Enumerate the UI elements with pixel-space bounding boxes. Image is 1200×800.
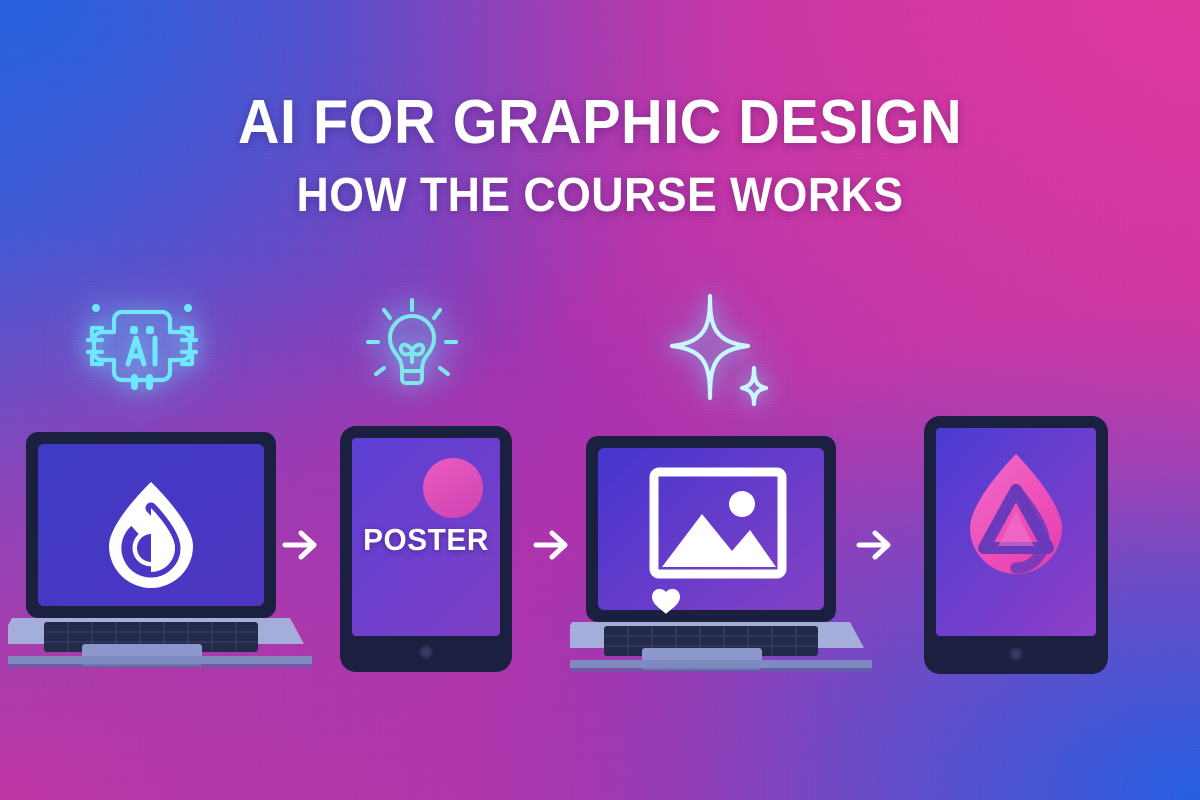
laptop-image-result	[570, 434, 872, 672]
lightbulb-idea-icon	[356, 292, 468, 404]
flow-arrow-1	[277, 522, 323, 568]
flow-arrow-3	[851, 522, 897, 568]
laptop-brand-logo	[8, 430, 312, 670]
heading-block: AI FOR GRAPHIC DESIGN HOW THE COURSE WOR…	[0, 92, 1200, 220]
poster-accent-circle	[423, 458, 483, 518]
tablet-final-logo	[920, 414, 1112, 676]
poster-text: POSTER	[340, 522, 513, 558]
sparkle-icon	[662, 290, 782, 406]
page-title: AI FOR GRAPHIC DESIGN	[42, 92, 1158, 154]
poster-canvas: AI FOR GRAPHIC DESIGN HOW THE COURSE WOR…	[0, 0, 1200, 800]
page-subtitle: HOW THE COURSE WORKS	[42, 172, 1158, 220]
flow-arrow-2	[528, 522, 574, 568]
ai-chip-icon	[78, 282, 206, 410]
